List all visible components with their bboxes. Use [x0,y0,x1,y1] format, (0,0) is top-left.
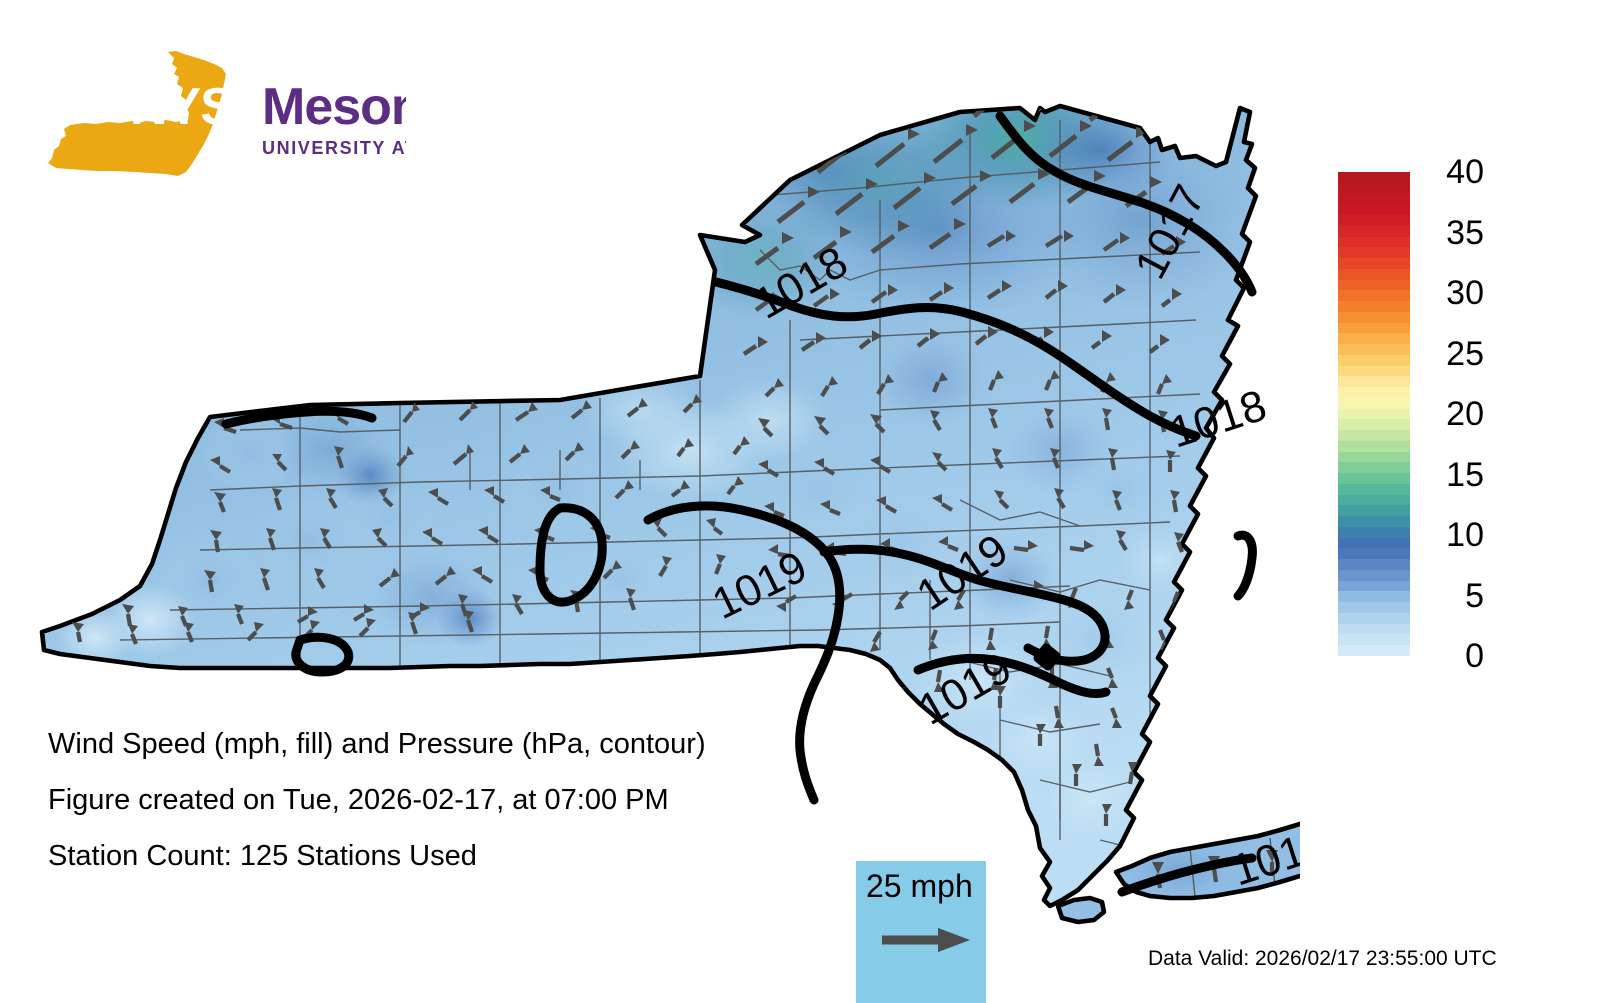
colorbar-segment [1338,226,1410,237]
colorbar-segment [1338,323,1410,334]
colorbar-segment [1338,495,1410,506]
wind-scale-legend: 25 mph [856,861,986,1003]
wind-scale-label: 25 mph [866,867,973,905]
colorbar-segment [1338,355,1410,366]
colorbar-segment [1338,559,1410,570]
colorbar-segment [1338,624,1410,635]
colorbar-segment [1338,441,1410,452]
colorbar-segment [1338,376,1410,387]
colorbar-segment [1338,613,1410,624]
colorbar-segment [1338,312,1410,323]
colorbar-segment [1338,344,1410,355]
colorbar-segment [1338,269,1410,280]
colorbar-segment [1338,387,1410,398]
contour-cell-eastern [1238,535,1252,596]
colorbar-segment [1338,430,1410,441]
caption-title: Wind Speed (mph, fill) and Pressure (hPa… [48,716,828,772]
colorbar-segment [1338,570,1410,581]
colorbar-gradient [1338,172,1410,656]
caption-created: Figure created on Tue, 2026-02-17, at 07… [48,772,828,828]
colorbar-segment [1338,538,1410,549]
colorbar-segment [1338,452,1410,463]
colorbar-tick-label: 40 [1422,155,1484,189]
colorbar-segment [1338,280,1410,291]
colorbar-segment [1338,645,1410,656]
colorbar-segment [1338,247,1410,258]
colorbar-segment [1338,473,1410,484]
colorbar-segment [1338,409,1410,420]
colorbar-segment [1338,505,1410,516]
colorbar-tick-label: 30 [1422,276,1484,310]
colorbar-segment [1338,215,1410,226]
colorbar-segment [1338,301,1410,312]
colorbar-tick-label: 20 [1422,397,1484,431]
colorbar-segment [1338,602,1410,613]
colorbar-tick-label: 15 [1422,458,1484,492]
colorbar-tick-label: 35 [1422,216,1484,250]
colorbar-segment [1338,548,1410,559]
colorbar-segment [1338,581,1410,592]
caption-station-count: Station Count: 125 Stations Used [48,828,828,884]
colorbar-segment [1338,484,1410,495]
colorbar-segment [1338,333,1410,344]
colorbar-segment [1338,237,1410,248]
colorbar-segment [1338,194,1410,205]
wind-scale-arrow-icon [880,925,972,955]
colorbar-tick-label: 0 [1422,639,1484,673]
caption-block: Wind Speed (mph, fill) and Pressure (hPa… [48,716,828,884]
colorbar-segment [1338,398,1410,409]
colorbar-segment [1338,516,1410,527]
colorbar-segment [1338,634,1410,645]
colorbar-segment [1338,204,1410,215]
colorbar: 4035302520151050 [1338,172,1588,662]
colorbar-segment [1338,462,1410,473]
colorbar-segment [1338,419,1410,430]
colorbar-tick-label: 10 [1422,518,1484,552]
colorbar-segment [1338,527,1410,538]
colorbar-segment [1338,183,1410,194]
contour-label-1019-longisland: 1019 [1226,819,1300,896]
colorbar-tick-labels: 4035302520151050 [1422,172,1502,656]
colorbar-segment [1338,366,1410,377]
colorbar-segment [1338,591,1410,602]
colorbar-segment [1338,172,1410,183]
colorbar-tick-label: 5 [1422,579,1484,613]
colorbar-segment [1338,258,1410,269]
data-valid-text: Data Valid: 2026/02/17 23:55:00 UTC [1148,946,1497,972]
colorbar-tick-label: 25 [1422,337,1484,371]
colorbar-segment [1338,290,1410,301]
